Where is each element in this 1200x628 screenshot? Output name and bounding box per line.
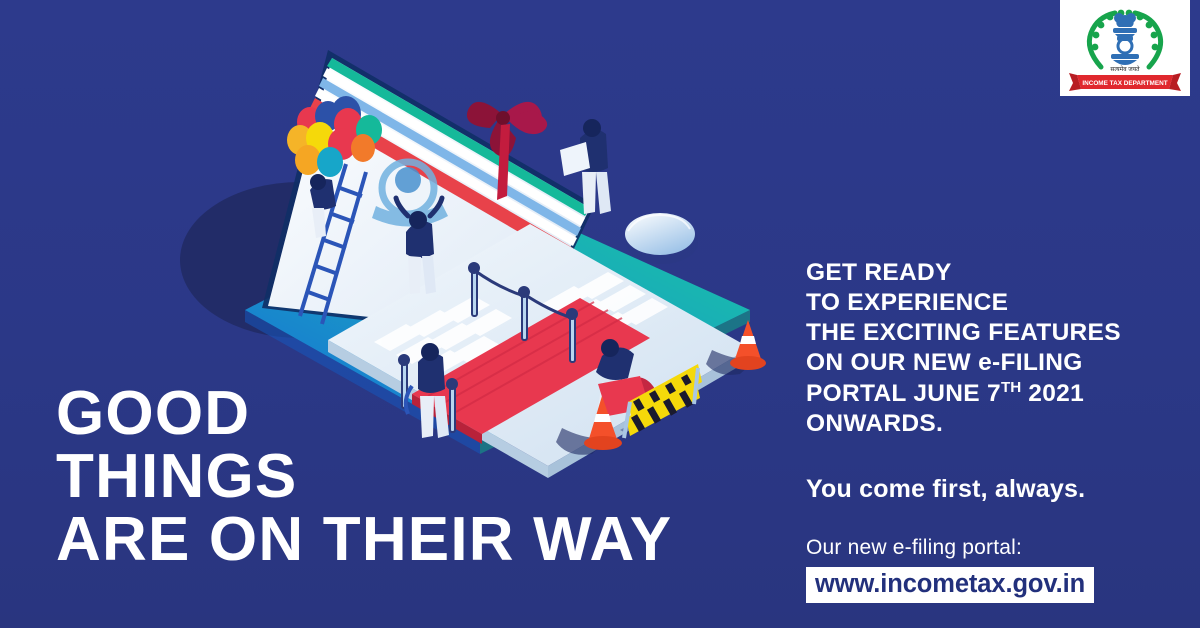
portal-label: Our new e-filing portal: [806,536,1106,560]
kicker-line-4-post: -FILING [992,349,1083,376]
kicker-line-1: GET READY [806,258,1106,288]
headline-line-2: THINGS [56,445,756,508]
kicker-line-5: PORTAL JUNE 7TH 2021 [806,379,1106,409]
copy-block: GET READY TO EXPERIENCE THE EXCITING FEA… [806,258,1106,603]
kicker-line-5-pre: PORTAL JUNE 7 [806,380,1001,407]
kicker-line-3: THE EXCITING FEATURES [806,318,1106,348]
tagline: You come first, always. [806,475,1106,504]
kicker-line-2: TO EXPERIENCE [806,288,1106,318]
kicker-line-5-ordinal: TH [1001,379,1021,396]
emblem-icon: सत्यमेव जयते INCOME TAX DEPARTMENT [1065,3,1185,93]
kicker-line-6: ONWARDS. [806,409,1106,439]
poster-canvas: सत्यमेव जयते INCOME TAX DEPARTMENT GOOD … [0,0,1200,628]
kicker-text: GET READY TO EXPERIENCE THE EXCITING FEA… [806,258,1106,439]
main-headline: GOOD THINGS ARE ON THEIR WAY [56,382,756,572]
emblem-motto: सत्यमेव जयते [1110,65,1140,73]
income-tax-department-logo: सत्यमेव जयते INCOME TAX DEPARTMENT [1060,0,1190,96]
portal-url-box[interactable]: www.incometax.gov.in [806,567,1094,603]
emblem-banner-text: INCOME TAX DEPARTMENT [1082,80,1167,87]
kicker-line-4-e: e [978,349,992,376]
headline-line-1: GOOD [56,382,756,445]
kicker-line-4: ON OUR NEW e-FILING [806,348,1106,378]
computer-mouse-illustration [625,213,698,264]
kicker-line-4-pre: ON OUR NEW [806,349,978,376]
headline-line-3: ARE ON THEIR WAY [56,508,756,571]
portal-url[interactable]: www.incometax.gov.in [815,571,1085,598]
kicker-line-5-post: 2021 [1021,380,1084,407]
emblem-banner: INCOME TAX DEPARTMENT [1069,73,1181,91]
